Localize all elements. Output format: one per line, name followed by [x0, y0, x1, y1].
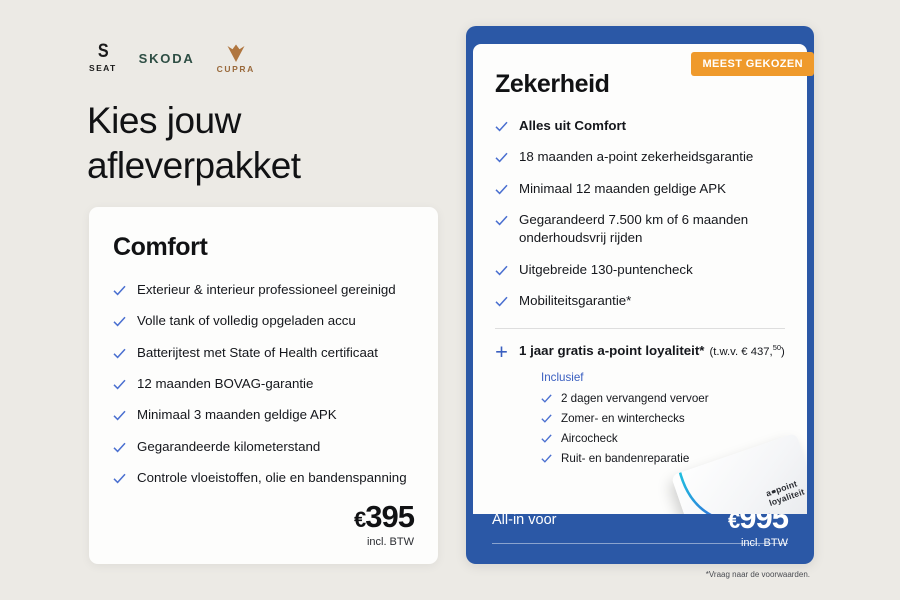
comfort-feature-list: Exterieur & interieur professioneel gere…: [113, 281, 414, 487]
list-item-label: Ruit- en bandenreparatie: [561, 452, 689, 465]
list-item: Minimaal 12 maanden geldige APK: [495, 180, 785, 198]
list-item: Exterieur & interieur professioneel gere…: [113, 281, 414, 299]
seat-wordmark: SEAT: [89, 63, 117, 73]
loyalty-value-prefix: (t.w.v. € 437,: [709, 346, 772, 358]
comfort-price-note: incl. BTW: [354, 536, 414, 548]
section-divider: [495, 328, 785, 329]
list-item: Mobiliteitsgarantie*: [495, 292, 785, 310]
status-badge: MEEST GEKOZEN: [691, 52, 814, 76]
footnote: *Vraag naar de voorwaarden.: [706, 570, 810, 579]
loyalty-upsell-row: 1 jaar gratis a-point loyaliteit*(t.w.v.…: [495, 343, 785, 359]
check-icon: [541, 453, 552, 464]
package-card-zekerheid[interactable]: MEEST GEKOZEN Zekerheid Alles uit Comfor…: [466, 26, 814, 564]
check-icon: [541, 393, 552, 404]
list-item: Zomer- en winterchecks: [541, 412, 785, 425]
list-item-label: 2 dagen vervangend vervoer: [561, 392, 709, 405]
check-icon: [495, 214, 508, 227]
list-item: Volle tank of volledig opgeladen accu: [113, 312, 414, 330]
check-icon: [541, 413, 552, 424]
check-icon: [113, 347, 126, 360]
check-icon: [495, 120, 508, 133]
check-icon: [541, 433, 552, 444]
zekerheid-content: Zekerheid Alles uit Comfort 18 maanden a…: [473, 44, 807, 514]
list-item: Aircocheck: [541, 432, 785, 445]
check-icon: [113, 472, 126, 485]
check-icon: [495, 183, 508, 196]
list-item: Uitgebreide 130-puntencheck: [495, 261, 785, 279]
list-item-label: Uitgebreide 130-puntencheck: [519, 261, 785, 279]
list-item: Minimaal 3 maanden geldige APK: [113, 406, 414, 424]
check-icon: [495, 264, 508, 277]
loyalty-value: (t.w.v. € 437,50): [709, 346, 784, 358]
page-title: Kies jouw afleverpakket: [87, 98, 427, 188]
list-item: Controle vloeistoffen, olie en bandenspa…: [113, 469, 414, 487]
check-icon: [113, 378, 126, 391]
cupra-emblem-icon: [223, 43, 249, 63]
check-icon: [495, 151, 508, 164]
loyalty-value-suffix: ): [781, 346, 785, 358]
check-icon: [113, 315, 126, 328]
list-item-label: 12 maanden BOVAG-garantie: [137, 375, 414, 393]
seat-logo: S SEAT: [89, 43, 117, 72]
list-item: Batterijtest met State of Health certifi…: [113, 344, 414, 362]
list-item: Gegarandeerde kilometerstand: [113, 438, 414, 456]
inclusief-label: Inclusief: [541, 371, 785, 384]
comfort-price: €395: [354, 501, 414, 532]
currency-symbol: €: [354, 507, 365, 532]
poster-canvas: S SEAT SKODA CUPRA Kies jouw afleverpakk…: [0, 0, 900, 600]
list-item: 2 dagen vervangend vervoer: [541, 392, 785, 405]
footer-underline: [492, 543, 788, 544]
check-icon: [113, 441, 126, 454]
list-item-label: Batterijtest met State of Health certifi…: [137, 344, 414, 362]
cupra-wordmark: CUPRA: [217, 64, 255, 74]
check-icon: [495, 295, 508, 308]
list-item-label: Minimaal 12 maanden geldige APK: [519, 180, 785, 198]
list-item-label: Minimaal 3 maanden geldige APK: [137, 406, 414, 424]
loyalty-value-cents: 50: [773, 344, 781, 353]
list-item-label: Alles uit Comfort: [519, 117, 785, 135]
list-item-label: Zomer- en winterchecks: [561, 412, 685, 425]
zekerheid-feature-list: Alles uit Comfort 18 maanden a-point zek…: [495, 117, 785, 310]
list-item: Gegarandeerd 7.500 km of 6 maanden onder…: [495, 211, 785, 248]
allin-label: All-in voor: [492, 512, 556, 528]
comfort-price-amount: 395: [365, 499, 414, 534]
package-card-comfort[interactable]: Comfort Exterieur & interieur profession…: [89, 207, 438, 564]
list-item-label: Controle vloeistoffen, olie en bandenspa…: [137, 469, 414, 487]
list-item-label: Volle tank of volledig opgeladen accu: [137, 312, 414, 330]
loyalty-text: 1 jaar gratis a-point loyaliteit*(t.w.v.…: [519, 343, 785, 358]
cupra-logo: CUPRA: [217, 43, 255, 74]
list-item-label: Aircocheck: [561, 432, 618, 445]
list-item-label: Gegarandeerde kilometerstand: [137, 438, 414, 456]
list-item-label: 18 maanden a-point zekerheidsgarantie: [519, 148, 785, 166]
comfort-price-block: €395 incl. BTW: [354, 501, 414, 548]
loyalty-title: 1 jaar gratis a-point loyaliteit*: [519, 343, 704, 358]
skoda-logo: SKODA: [139, 51, 195, 66]
list-item-label: Gegarandeerd 7.500 km of 6 maanden onder…: [519, 211, 785, 248]
list-item-label: Exterieur & interieur professioneel gere…: [137, 281, 414, 299]
list-item-label: Mobiliteitsgarantie*: [519, 292, 785, 310]
brand-logo-row: S SEAT SKODA CUPRA: [89, 40, 255, 76]
comfort-title: Comfort: [113, 233, 414, 262]
seat-emblem-icon: S: [98, 43, 108, 61]
check-icon: [113, 409, 126, 422]
list-item: 18 maanden a-point zekerheidsgarantie: [495, 148, 785, 166]
list-item: 12 maanden BOVAG-garantie: [113, 375, 414, 393]
plus-icon: [495, 345, 508, 359]
skoda-wordmark: SKODA: [139, 51, 195, 66]
check-icon: [113, 284, 126, 297]
list-item: Alles uit Comfort: [495, 117, 785, 135]
